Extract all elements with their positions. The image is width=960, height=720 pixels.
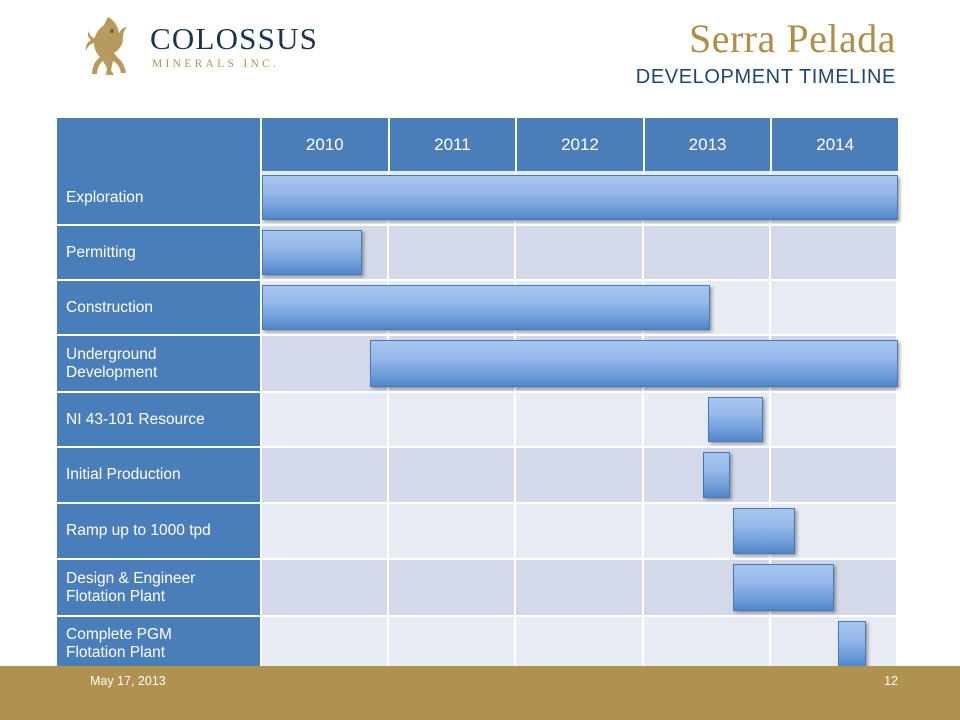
- cell-2013: [644, 226, 771, 279]
- gantt-table: 2010 2011 2012 2013 2014 ExplorationPerm…: [57, 118, 898, 663]
- row-label-permitting[interactable]: Permitting: [57, 226, 262, 279]
- row-track: [262, 448, 898, 502]
- griffin-icon: [78, 14, 140, 80]
- table-row: Exploration: [57, 171, 898, 224]
- cell-2010: [262, 504, 389, 558]
- cell-2011: [389, 393, 516, 446]
- table-corner-cell: [57, 118, 262, 171]
- table-row: Design & Engineer Flotation Plant: [57, 560, 898, 615]
- table-row: Complete PGM Flotation Plant: [57, 617, 898, 671]
- page-subtitle: DEVELOPMENT TIMELINE: [636, 66, 896, 89]
- gantt-bar[interactable]: [708, 397, 763, 442]
- table-row: Ramp up to 1000 tpd: [57, 504, 898, 558]
- row-track: [262, 226, 898, 279]
- slide: COLOSSUS MINERALS INC. Serra Pelada DEVE…: [0, 0, 960, 720]
- row-track: [262, 393, 898, 446]
- table-row: Initial Production: [57, 448, 898, 502]
- company-logo: COLOSSUS MINERALS INC.: [78, 14, 318, 80]
- cell-2012: [516, 393, 643, 446]
- cell-2010: [262, 448, 389, 502]
- cell-2013: [644, 617, 771, 671]
- cell-2011: [389, 226, 516, 279]
- cell-2011: [389, 504, 516, 558]
- cell-2014: [771, 226, 898, 279]
- cell-2014: [771, 617, 898, 671]
- gantt-bar[interactable]: [703, 452, 730, 498]
- row-track: [262, 560, 898, 615]
- footer-page-number: 12: [884, 674, 898, 688]
- logo-subtext: MINERALS INC.: [150, 59, 318, 71]
- table-row: Construction: [57, 281, 898, 334]
- gantt-bar[interactable]: [262, 175, 898, 220]
- table-row: Permitting: [57, 226, 898, 279]
- cell-2011: [389, 560, 516, 615]
- cell-2010: [262, 617, 389, 671]
- cell-2012: [516, 226, 643, 279]
- year-header-2013: 2013: [645, 118, 773, 171]
- gantt-bar[interactable]: [262, 285, 710, 330]
- row-track: [262, 504, 898, 558]
- cell-2011: [389, 617, 516, 671]
- row-track: [262, 171, 898, 224]
- gantt-bar[interactable]: [838, 621, 866, 667]
- row-label-underground-development[interactable]: Underground Development: [57, 336, 262, 391]
- row-label-ni-43-101-resource[interactable]: NI 43-101 Resource: [57, 393, 262, 446]
- year-header-2012: 2012: [517, 118, 645, 171]
- table-row: Underground Development: [57, 336, 898, 391]
- row-label-design-engineer-flotation-plant[interactable]: Design & Engineer Flotation Plant: [57, 560, 262, 615]
- year-header-2010: 2010: [262, 118, 390, 171]
- title-block: Serra Pelada DEVELOPMENT TIMELINE: [636, 18, 896, 89]
- cell-2014: [771, 448, 898, 502]
- row-label-ramp-up-to-1000-tpd[interactable]: Ramp up to 1000 tpd: [57, 504, 262, 558]
- gantt-bar[interactable]: [733, 508, 795, 554]
- gantt-bar[interactable]: [262, 230, 362, 275]
- logo-wordmark: COLOSSUS: [150, 23, 318, 54]
- cell-2010: [262, 393, 389, 446]
- row-track: [262, 336, 898, 391]
- table-header-row: 2010 2011 2012 2013 2014: [57, 118, 898, 171]
- cell-2011: [389, 448, 516, 502]
- cell-2014: [771, 281, 898, 334]
- row-label-complete-pgm-flotation-plant[interactable]: Complete PGM Flotation Plant: [57, 617, 262, 671]
- row-label-construction[interactable]: Construction: [57, 281, 262, 334]
- gantt-bar[interactable]: [370, 340, 898, 387]
- row-label-exploration[interactable]: Exploration: [57, 171, 262, 224]
- row-track: [262, 617, 898, 671]
- cell-2012: [516, 448, 643, 502]
- cell-2010: [262, 560, 389, 615]
- cell-2012: [516, 560, 643, 615]
- page-title: Serra Pelada: [636, 18, 896, 60]
- cell-2012: [516, 504, 643, 558]
- year-header-2011: 2011: [390, 118, 518, 171]
- row-track: [262, 281, 898, 334]
- row-label-initial-production[interactable]: Initial Production: [57, 448, 262, 502]
- footer-date: May 17, 2013: [90, 674, 166, 688]
- cell-2012: [516, 617, 643, 671]
- cell-2014: [771, 393, 898, 446]
- table-row: NI 43-101 Resource: [57, 393, 898, 446]
- gantt-bar[interactable]: [733, 564, 833, 611]
- year-header-2014: 2014: [772, 118, 898, 171]
- footer-bar: May 17, 2013 12: [0, 666, 960, 720]
